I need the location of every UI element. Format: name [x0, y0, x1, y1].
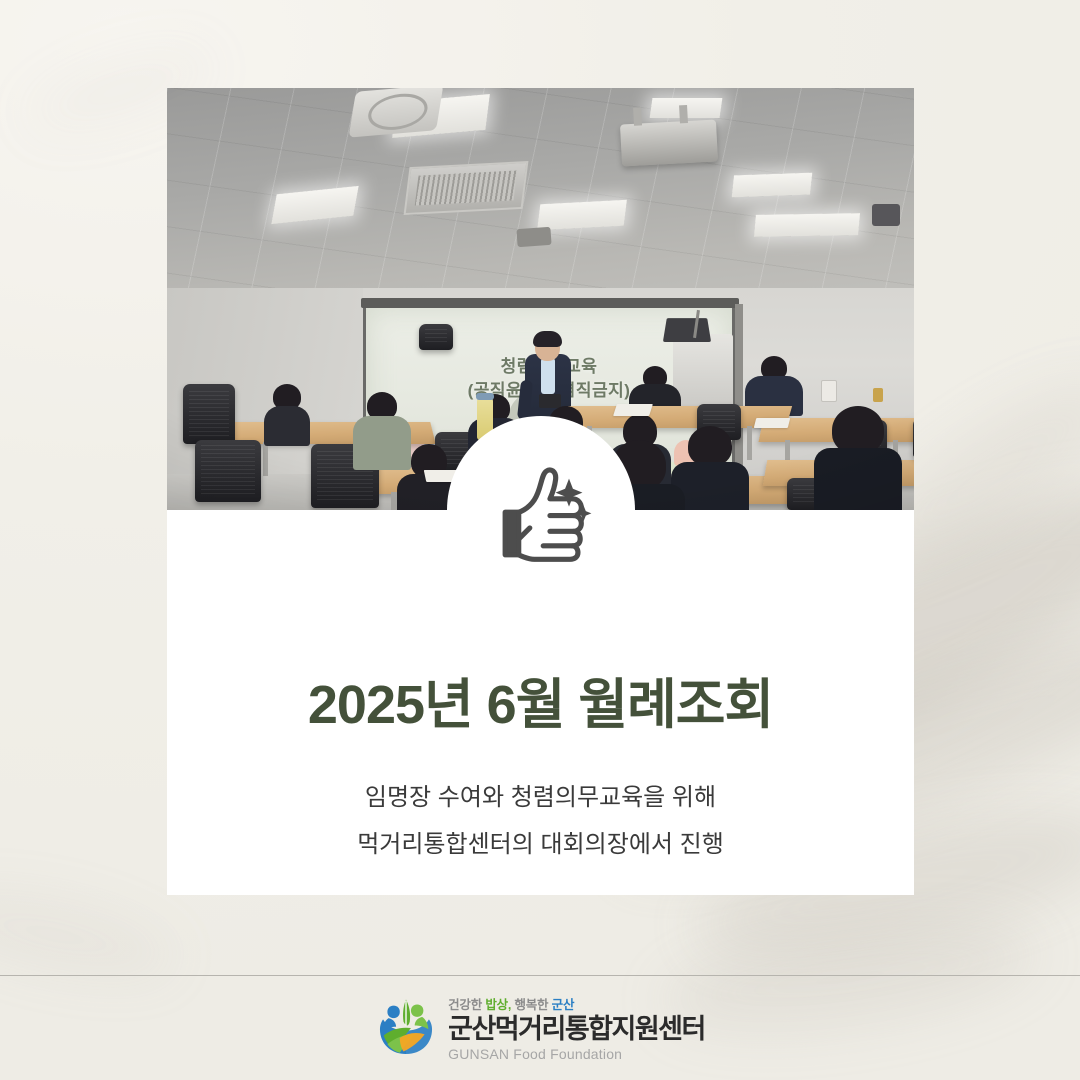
chair — [419, 324, 453, 350]
chair — [195, 440, 261, 502]
laptop — [663, 318, 711, 342]
organization-logo: 건강한 밥상, 행복한 군산 군산먹거리통합지원센터 GUNSAN Food F… — [375, 994, 705, 1062]
page-subtitle: 임명장 수여와 청렴의무교육을 위해 먹거리통합센터의 대회의장에서 진행 — [357, 775, 724, 869]
ceiling-projector — [620, 120, 718, 167]
thumbs-up-badge — [447, 416, 635, 604]
gunsan-food-foundation-logo-mark — [375, 997, 437, 1059]
attendee — [819, 406, 897, 510]
subtitle-line-2: 먹거리통합센터의 대회의장에서 진행 — [357, 822, 724, 869]
footer: 건강한 밥상, 행복한 군산 군산먹거리통합지원센터 GUNSAN Food F… — [0, 975, 1080, 1080]
logo-tagline: 건강한 밥상, 행복한 군산 — [448, 994, 705, 1013]
attendee — [675, 426, 745, 510]
tagline-part-2: 밥상, — [485, 998, 511, 1012]
tagline-part-3: 행복한 — [511, 998, 551, 1012]
ceiling-air-diffuser — [349, 88, 444, 138]
chair — [913, 418, 914, 458]
presenter-hair — [533, 331, 562, 347]
attendee-head — [832, 406, 884, 454]
content-card: 청렴의무교육 (공직윤리와 겸직금지) — [167, 88, 914, 895]
attendee — [263, 384, 311, 444]
attendee-head — [688, 426, 732, 466]
page-title: 2025년 6월 월례조회 — [308, 676, 773, 735]
thumbs-up-icon — [485, 454, 597, 566]
presenter-shirt — [541, 358, 555, 394]
ceiling-light — [732, 173, 813, 198]
logo-name-english: GUNSAN Food Foundation — [448, 1046, 705, 1062]
wall-speaker — [872, 204, 900, 226]
paper-document — [613, 404, 653, 416]
attendee-torso — [264, 406, 310, 446]
ceiling-light — [537, 200, 627, 230]
tagline-part-1: 건강한 — [448, 998, 485, 1012]
ceiling-speaker — [516, 227, 551, 247]
desk-leg — [747, 426, 752, 460]
attendee-torso — [814, 448, 902, 510]
desk-leg — [263, 442, 268, 476]
ceiling-air-conditioner — [404, 161, 529, 215]
door-knob — [873, 388, 883, 402]
subtitle-line-1: 임명장 수여와 청렴의무교육을 위해 — [357, 775, 724, 822]
tagline-part-4: 군산 — [552, 998, 575, 1012]
chair — [183, 384, 235, 444]
wall-outlet — [821, 380, 837, 402]
logo-text: 건강한 밥상, 행복한 군산 군산먹거리통합지원센터 GUNSAN Food F… — [448, 994, 705, 1062]
logo-name-korean: 군산먹거리통합지원센터 — [448, 1015, 705, 1043]
paper-document — [754, 418, 790, 428]
projection-screen-bar — [361, 298, 739, 308]
ceiling-light — [754, 213, 860, 237]
